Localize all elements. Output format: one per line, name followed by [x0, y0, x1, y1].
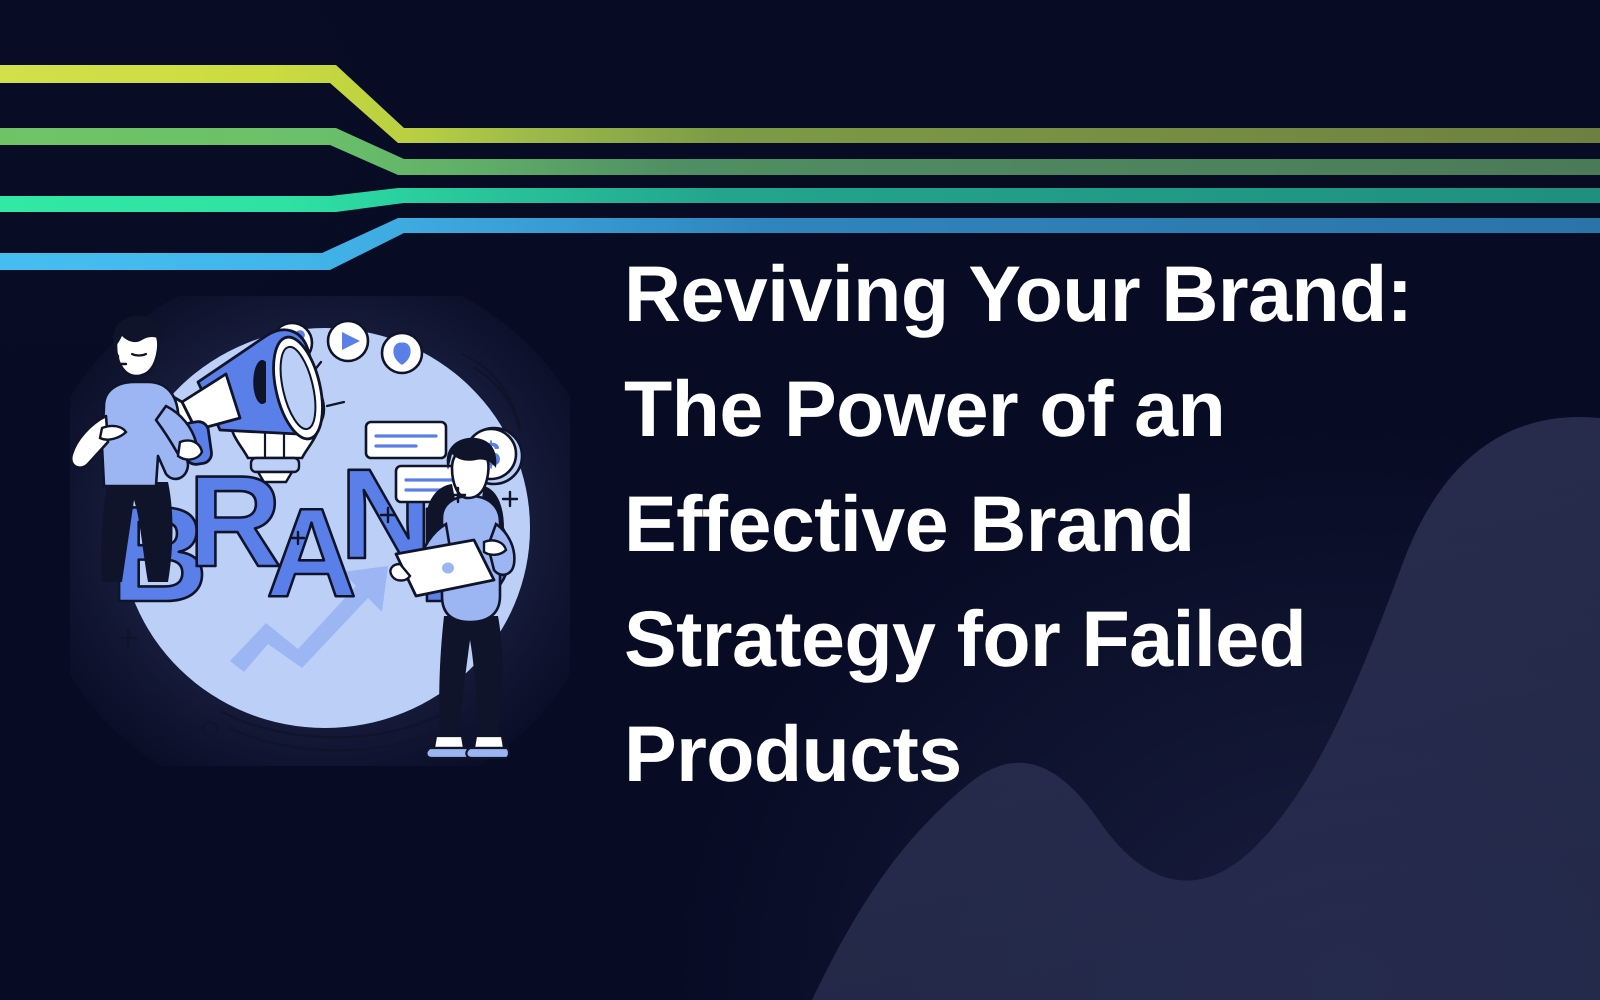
- brand-strategy-illustration: B R A N D: [70, 296, 570, 766]
- page-title: Reviving Your Brand: The Power of an Eff…: [624, 236, 1504, 811]
- message-box-icon: [366, 422, 446, 458]
- ribbon-line-teal: [0, 188, 1600, 212]
- heart-icon: [382, 333, 422, 373]
- play-icon: [328, 321, 368, 361]
- hero-banner: B R A N D: [0, 0, 1600, 1000]
- hero-title-block: Reviving Your Brand: The Power of an Eff…: [624, 236, 1504, 811]
